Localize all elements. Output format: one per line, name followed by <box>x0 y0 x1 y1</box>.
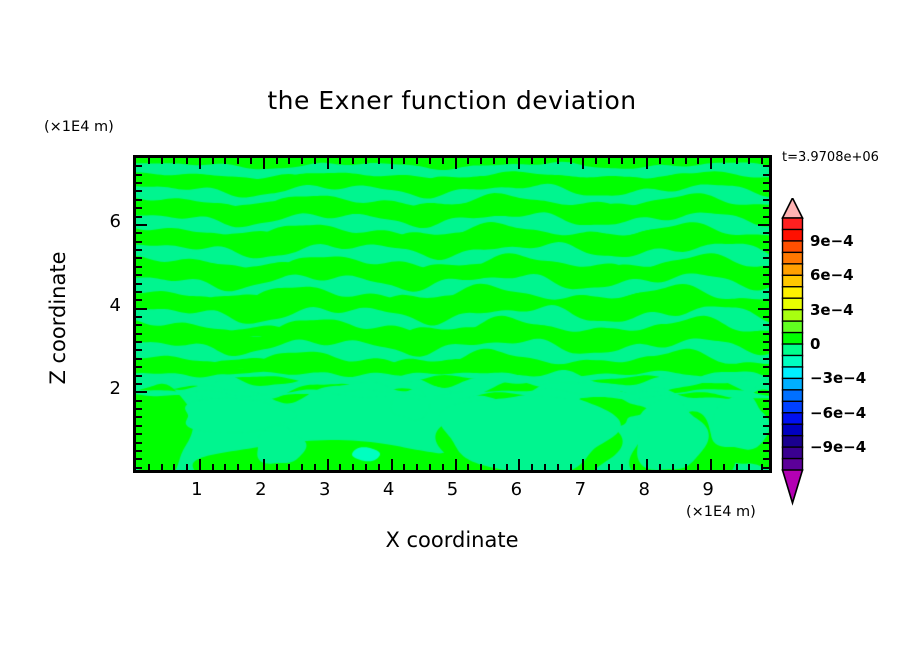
x-axis-title: X coordinate <box>0 528 904 552</box>
y-minor-tick-right <box>763 241 769 243</box>
y-minor-tick-right <box>763 383 769 385</box>
x-minor-tick-top <box>352 158 354 164</box>
x-tick-label: 7 <box>560 479 600 500</box>
x-minor-tick <box>250 464 252 470</box>
y-minor-tick <box>136 316 142 318</box>
y-minor-tick <box>136 283 142 285</box>
x-minor-tick <box>633 464 635 470</box>
x-tick-label: 8 <box>624 479 664 500</box>
y-minor-tick <box>136 190 142 192</box>
x-minor-tick-top <box>301 158 303 164</box>
y-tick-label: 2 <box>93 378 121 399</box>
y-minor-tick <box>136 257 142 259</box>
colorbar-tick-label: −3e−4 <box>810 369 866 387</box>
x-major-tick-top <box>199 158 201 169</box>
y-minor-tick-right <box>763 174 769 176</box>
y-minor-tick-right <box>763 291 769 293</box>
y-minor-tick-right <box>763 257 769 259</box>
x-minor-tick-top <box>608 158 610 164</box>
x-minor-tick <box>557 464 559 470</box>
x-minor-tick-top <box>237 158 239 164</box>
colorbar[interactable] <box>780 198 806 518</box>
y-minor-tick-right <box>763 190 769 192</box>
x-minor-tick-top <box>148 158 150 164</box>
x-minor-tick <box>352 464 354 470</box>
x-major-tick-top <box>710 158 712 169</box>
y-minor-tick-right <box>763 207 769 209</box>
x-minor-tick <box>723 464 725 470</box>
contour-field <box>136 158 772 473</box>
x-minor-tick-top <box>595 158 597 164</box>
x-minor-tick-top <box>416 158 418 164</box>
y-minor-tick <box>136 349 142 351</box>
y-minor-tick <box>136 442 142 444</box>
x-minor-tick-top <box>748 158 750 164</box>
x-major-tick-top <box>646 158 648 169</box>
y-minor-tick <box>136 333 142 335</box>
x-minor-tick-top <box>761 158 763 164</box>
x-major-tick-top <box>518 158 520 169</box>
y-major-tick-right <box>758 391 769 393</box>
x-minor-tick <box>173 464 175 470</box>
y-minor-tick-right <box>763 216 769 218</box>
y-minor-tick-right <box>763 232 769 234</box>
y-minor-tick-right <box>763 283 769 285</box>
x-major-tick-top <box>391 158 393 169</box>
y-minor-tick-right <box>763 408 769 410</box>
x-minor-tick <box>672 464 674 470</box>
x-minor-tick <box>480 464 482 470</box>
y-major-tick-right <box>758 224 769 226</box>
y-minor-tick-right <box>763 249 769 251</box>
y-axis-title: Z coordinate <box>46 208 70 428</box>
colorbar-tick-label: 6e−4 <box>810 266 854 284</box>
y-minor-tick <box>136 249 142 251</box>
y-minor-tick-right <box>763 450 769 452</box>
y-minor-tick <box>136 467 142 469</box>
y-minor-tick-right <box>763 366 769 368</box>
y-minor-tick <box>136 400 142 402</box>
x-minor-tick-top <box>557 158 559 164</box>
x-minor-tick-top <box>339 158 341 164</box>
x-minor-tick-top <box>506 158 508 164</box>
x-minor-tick-top <box>276 158 278 164</box>
x-minor-tick <box>608 464 610 470</box>
y-minor-tick <box>136 408 142 410</box>
x-minor-tick <box>314 464 316 470</box>
x-minor-tick-top <box>544 158 546 164</box>
y-major-tick <box>136 224 147 226</box>
x-major-tick <box>199 459 201 470</box>
y-major-tick <box>136 391 147 393</box>
y-minor-tick-right <box>763 199 769 201</box>
x-minor-tick-top <box>467 158 469 164</box>
y-minor-tick <box>136 165 142 167</box>
y-major-tick <box>136 308 147 310</box>
x-minor-tick <box>685 464 687 470</box>
y-minor-tick-right <box>763 358 769 360</box>
y-minor-tick-right <box>763 416 769 418</box>
y-minor-tick <box>136 383 142 385</box>
x-minor-tick <box>506 464 508 470</box>
x-tick-label: 4 <box>369 479 409 500</box>
x-minor-tick <box>403 464 405 470</box>
y-minor-tick <box>136 274 142 276</box>
x-major-tick-top <box>327 158 329 169</box>
y-minor-tick-right <box>763 425 769 427</box>
x-minor-tick <box>148 464 150 470</box>
x-minor-tick <box>531 464 533 470</box>
y-minor-tick-right <box>763 400 769 402</box>
x-minor-tick-top <box>493 158 495 164</box>
y-minor-tick-right <box>763 375 769 377</box>
x-minor-tick <box>276 464 278 470</box>
y-tick-label: 4 <box>93 295 121 316</box>
y-minor-tick <box>136 433 142 435</box>
x-minor-tick <box>429 464 431 470</box>
x-tick-label: 5 <box>433 479 473 500</box>
x-tick-label: 6 <box>496 479 536 500</box>
x-minor-tick-top <box>633 158 635 164</box>
x-major-tick-top <box>582 158 584 169</box>
x-axis-unit-label: (×1E4 m) <box>686 504 756 520</box>
x-minor-tick <box>212 464 214 470</box>
x-tick-label: 2 <box>241 479 281 500</box>
y-minor-tick <box>136 241 142 243</box>
x-minor-tick <box>544 464 546 470</box>
x-minor-tick-top <box>314 158 316 164</box>
x-minor-tick <box>570 464 572 470</box>
y-minor-tick-right <box>763 458 769 460</box>
x-minor-tick-top <box>685 158 687 164</box>
y-minor-tick <box>136 458 142 460</box>
x-minor-tick <box>697 464 699 470</box>
y-minor-tick-right <box>763 433 769 435</box>
x-minor-tick-top <box>672 158 674 164</box>
y-minor-tick <box>136 299 142 301</box>
x-tick-label: 9 <box>688 479 728 500</box>
x-minor-tick-top <box>736 158 738 164</box>
y-minor-tick <box>136 232 142 234</box>
x-major-tick <box>263 459 265 470</box>
colorbar-tick-label: 9e−4 <box>810 232 854 250</box>
x-minor-tick-top <box>723 158 725 164</box>
page-title: the Exner function deviation <box>0 86 904 115</box>
timestamp-annotation: t=3.9708e+06 <box>782 150 879 165</box>
x-minor-tick-top <box>212 158 214 164</box>
y-minor-tick <box>136 207 142 209</box>
y-minor-tick <box>136 341 142 343</box>
colorbar-tick-label: −6e−4 <box>810 404 866 422</box>
x-minor-tick-top <box>570 158 572 164</box>
x-minor-tick-top <box>378 158 380 164</box>
y-minor-tick-right <box>763 316 769 318</box>
y-minor-tick <box>136 182 142 184</box>
x-minor-tick-top <box>403 158 405 164</box>
colorbar-tick-label: 0 <box>810 335 820 353</box>
x-minor-tick-top <box>480 158 482 164</box>
x-minor-tick-top <box>442 158 444 164</box>
colorbar-tick-label: 3e−4 <box>810 301 854 319</box>
x-minor-tick-top <box>429 158 431 164</box>
x-minor-tick <box>161 464 163 470</box>
y-minor-tick <box>136 216 142 218</box>
x-minor-tick-top <box>621 158 623 164</box>
x-minor-tick-top <box>161 158 163 164</box>
y-minor-tick <box>136 174 142 176</box>
x-minor-tick-top <box>365 158 367 164</box>
x-minor-tick-top <box>186 158 188 164</box>
x-major-tick <box>455 459 457 470</box>
y-minor-tick-right <box>763 467 769 469</box>
x-minor-tick <box>365 464 367 470</box>
x-minor-tick <box>621 464 623 470</box>
y-minor-tick <box>136 358 142 360</box>
y-minor-tick-right <box>763 274 769 276</box>
x-minor-tick <box>416 464 418 470</box>
y-minor-tick <box>136 366 142 368</box>
y-minor-tick <box>136 199 142 201</box>
y-minor-tick <box>136 291 142 293</box>
y-axis-unit-label: (×1E4 m) <box>44 119 114 135</box>
x-major-tick <box>327 459 329 470</box>
x-minor-tick-top <box>173 158 175 164</box>
y-minor-tick-right <box>763 442 769 444</box>
y-minor-tick-right <box>763 182 769 184</box>
x-minor-tick <box>736 464 738 470</box>
y-minor-tick-right <box>763 349 769 351</box>
x-tick-label: 1 <box>177 479 217 500</box>
x-minor-tick-top <box>531 158 533 164</box>
x-minor-tick <box>659 464 661 470</box>
x-minor-tick-top <box>659 158 661 164</box>
y-minor-tick-right <box>763 165 769 167</box>
y-minor-tick <box>136 425 142 427</box>
x-minor-tick <box>339 464 341 470</box>
x-major-tick <box>646 459 648 470</box>
y-minor-tick <box>136 375 142 377</box>
x-minor-tick-top <box>697 158 699 164</box>
x-major-tick <box>518 459 520 470</box>
x-minor-tick <box>442 464 444 470</box>
x-major-tick-top <box>455 158 457 169</box>
x-minor-tick <box>237 464 239 470</box>
x-minor-tick <box>224 464 226 470</box>
x-major-tick <box>582 459 584 470</box>
x-minor-tick <box>493 464 495 470</box>
x-minor-tick <box>301 464 303 470</box>
x-minor-tick <box>186 464 188 470</box>
y-major-tick-right <box>758 308 769 310</box>
x-minor-tick <box>748 464 750 470</box>
y-minor-tick-right <box>763 341 769 343</box>
y-minor-tick-right <box>763 333 769 335</box>
x-major-tick-top <box>263 158 265 169</box>
y-minor-tick-right <box>763 266 769 268</box>
x-minor-tick <box>467 464 469 470</box>
x-major-tick <box>391 459 393 470</box>
x-minor-tick <box>288 464 290 470</box>
x-tick-label: 3 <box>305 479 345 500</box>
y-tick-label: 6 <box>93 211 121 232</box>
y-minor-tick <box>136 450 142 452</box>
contour-plot-area[interactable] <box>133 155 772 473</box>
x-minor-tick <box>595 464 597 470</box>
x-minor-tick-top <box>250 158 252 164</box>
y-minor-tick <box>136 266 142 268</box>
x-major-tick <box>710 459 712 470</box>
colorbar-tick-label: −9e−4 <box>810 438 866 456</box>
x-minor-tick-top <box>224 158 226 164</box>
y-minor-tick-right <box>763 299 769 301</box>
y-minor-tick-right <box>763 324 769 326</box>
y-minor-tick <box>136 416 142 418</box>
x-minor-tick-top <box>288 158 290 164</box>
x-minor-tick <box>378 464 380 470</box>
y-minor-tick <box>136 324 142 326</box>
